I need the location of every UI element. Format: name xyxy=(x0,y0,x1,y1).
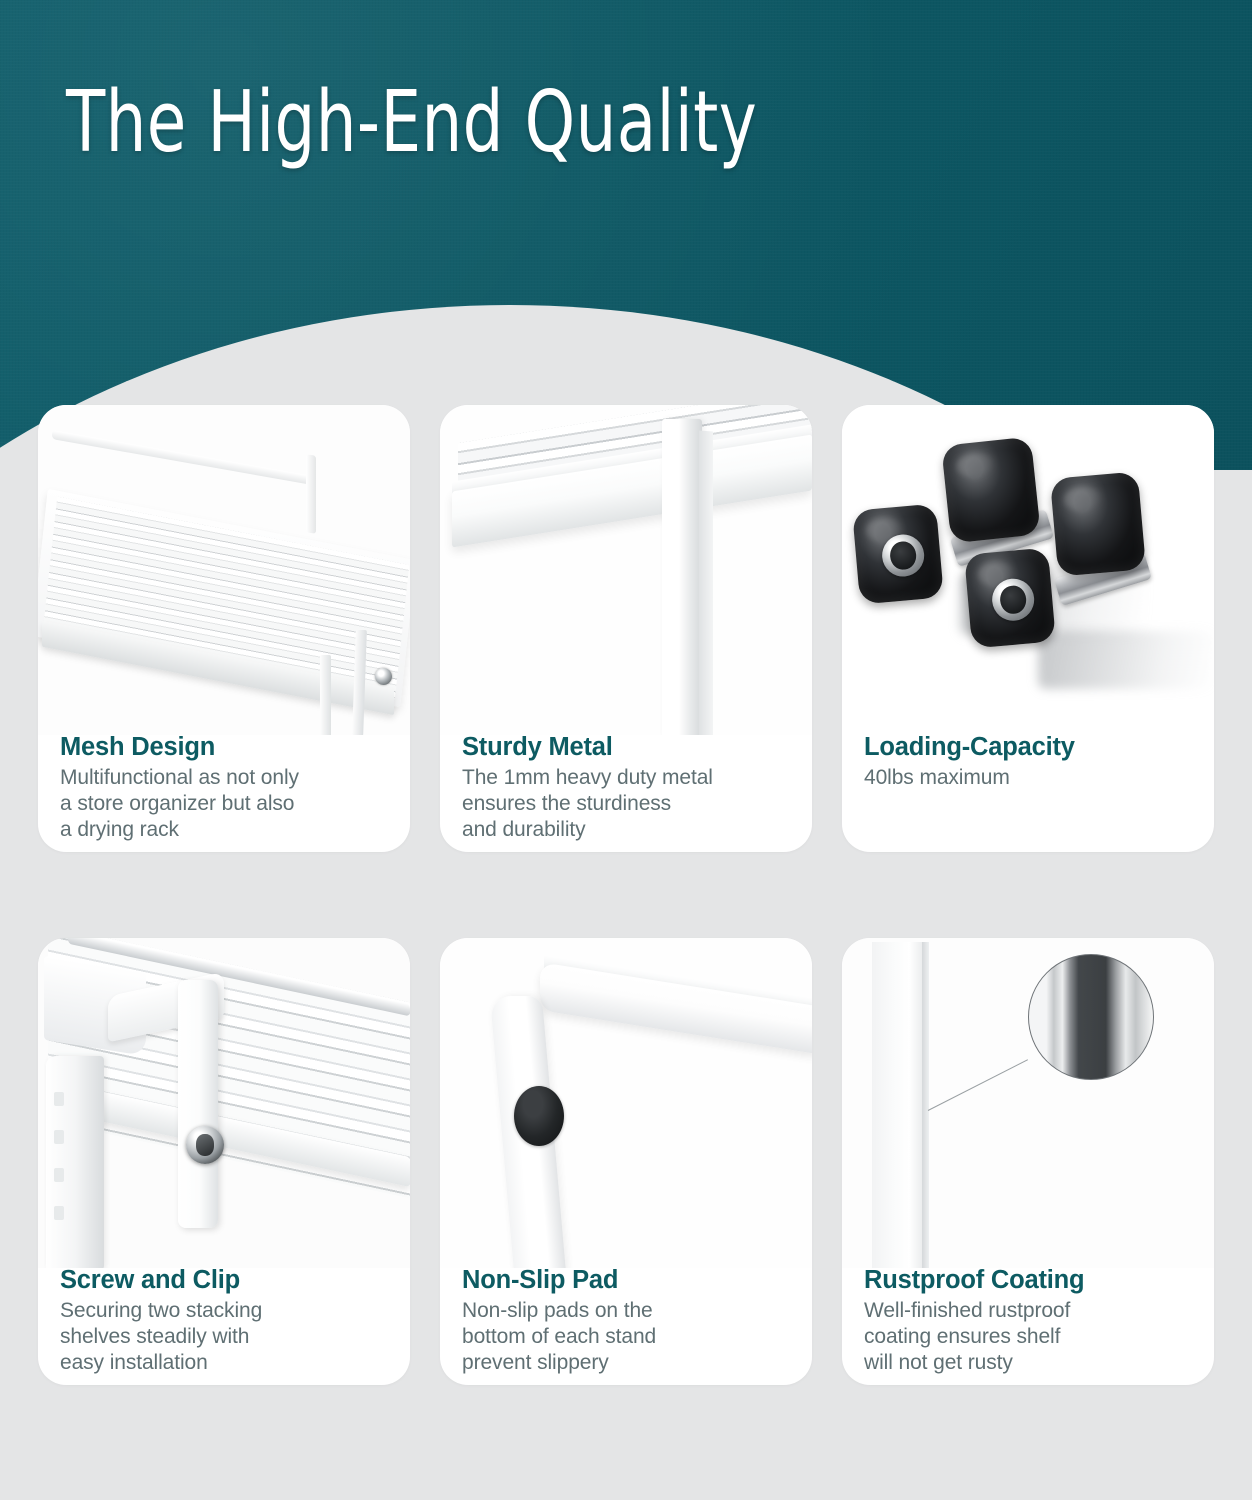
shelf-leg-right xyxy=(352,630,367,735)
mesh-design-text: Mesh Design Multifunctional as not only … xyxy=(60,733,394,844)
screw-clip-photo xyxy=(38,938,410,1268)
callout-leader-line xyxy=(928,1059,1028,1111)
rustproof-coating-text: Rustproof Coating Well-finished rustproo… xyxy=(864,1266,1198,1377)
dumbbell-back-medallion xyxy=(880,533,926,579)
coated-post-edge xyxy=(922,942,929,1268)
feature-title: Non-Slip Pad xyxy=(462,1266,796,1295)
sturdy-metal-photo xyxy=(440,405,812,735)
upright-notch-1 xyxy=(54,1092,64,1106)
dumbbell-front-medallion xyxy=(990,577,1036,623)
shelf-leg-left xyxy=(320,655,331,735)
rustproof-coating-photo xyxy=(842,938,1214,1268)
feature-card-rustproof-coating[interactable]: Rustproof Coating Well-finished rustproo… xyxy=(842,938,1214,1385)
feature-card-mesh-design[interactable]: Mesh Design Multifunctional as not only … xyxy=(38,405,410,852)
mesh-shelf-photo xyxy=(38,405,410,735)
upright-notch-3 xyxy=(54,1168,64,1182)
feature-card-non-slip-pad[interactable]: Non-Slip Pad Non-slip pads on the bottom… xyxy=(440,938,812,1385)
feature-card-sturdy-metal[interactable]: Sturdy Metal The 1mm heavy duty metal en… xyxy=(440,405,812,852)
shelf-rail-post xyxy=(306,454,316,533)
dumbbell-shadow-front xyxy=(1038,631,1214,689)
screw-slot xyxy=(196,1134,214,1155)
upright-notch-2 xyxy=(54,1130,64,1144)
non-slip-pad-text: Non-Slip Pad Non-slip pads on the bottom… xyxy=(462,1266,796,1377)
feature-card-loading-capacity[interactable]: Loading-Capacity 40lbs maximum xyxy=(842,405,1214,852)
frame-post-side-face xyxy=(699,431,713,735)
feature-title: Screw and Clip xyxy=(60,1266,394,1295)
feature-description: Well-finished rustproof coating ensures … xyxy=(864,1298,1198,1377)
loading-capacity-text: Loading-Capacity 40lbs maximum xyxy=(864,733,1198,791)
sturdy-metal-text: Sturdy Metal The 1mm heavy duty metal en… xyxy=(462,733,796,844)
dumbbell-front-head-right xyxy=(1050,471,1146,576)
feature-grid: Mesh Design Multifunctional as not only … xyxy=(38,405,1214,1385)
dumbbell-front-head-left xyxy=(964,548,1056,649)
chrome-screw-icon xyxy=(186,1126,224,1164)
feature-description: Non-slip pads on the bottom of each stan… xyxy=(462,1298,796,1377)
shelf-screw-icon xyxy=(375,668,392,685)
clip-body xyxy=(178,980,218,1228)
screw-and-clip-text: Screw and Clip Securing two stacking she… xyxy=(60,1266,394,1377)
dumbbell-back-head-left xyxy=(852,504,944,605)
feature-card-screw-and-clip[interactable]: Screw and Clip Securing two stacking she… xyxy=(38,938,410,1385)
dumbbell-back-head-right xyxy=(941,437,1041,544)
feature-description: Securing two stacking shelves steadily w… xyxy=(60,1298,394,1377)
feature-description: 40lbs maximum xyxy=(864,765,1198,791)
non-slip-pad-icon xyxy=(514,1086,564,1146)
hero-banner xyxy=(0,0,1252,470)
non-slip-pad-photo xyxy=(440,938,812,1268)
coated-post xyxy=(872,942,924,1268)
upright-pole xyxy=(46,1056,104,1268)
page-title: The High-End Quality xyxy=(66,78,757,167)
frame-vertical-post xyxy=(662,419,702,735)
feature-title: Rustproof Coating xyxy=(864,1266,1198,1295)
feature-title: Sturdy Metal xyxy=(462,733,796,762)
feature-title: Loading-Capacity xyxy=(864,733,1198,762)
shelf-back-rail xyxy=(52,430,312,485)
dumbbell-front-medallion-core xyxy=(999,584,1027,615)
feature-title: Mesh Design xyxy=(60,733,394,762)
feature-description: Multifunctional as not only a store orga… xyxy=(60,765,394,844)
dumbbell-back-medallion-core xyxy=(889,540,917,571)
feature-description: The 1mm heavy duty metal ensures the stu… xyxy=(462,765,796,844)
magnifier-callout-icon xyxy=(1028,954,1154,1080)
upright-notch-4 xyxy=(54,1206,64,1220)
dumbbells-photo xyxy=(842,405,1214,735)
